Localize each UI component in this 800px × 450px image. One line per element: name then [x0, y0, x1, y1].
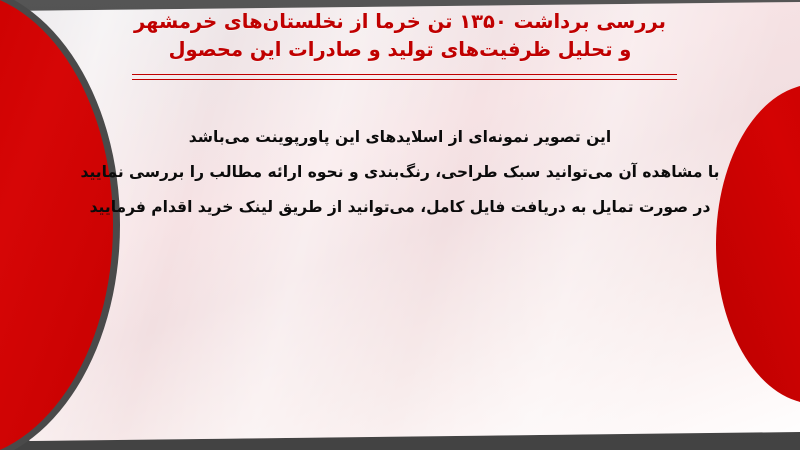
slide-body-line-3: در صورت تمایل به دریافت فایل کامل، می‌تو… — [0, 190, 800, 225]
slide-body-line-2: با مشاهده آن می‌توانید سبک طراحی، رنگ‌بن… — [0, 155, 800, 190]
slide-canvas: بررسی برداشت ۱۳۵۰ تن خرما از نخلستان‌های… — [0, 0, 800, 450]
title-divider-rule — [132, 74, 677, 80]
slide-title: بررسی برداشت ۱۳۵۰ تن خرما از نخلستان‌های… — [0, 8, 800, 63]
slide-title-line-1: بررسی برداشت ۱۳۵۰ تن خرما از نخلستان‌های… — [0, 8, 800, 36]
slide-body-text: این تصویر نمونه‌ای از اسلایدهای این پاور… — [0, 120, 800, 225]
slide-content: بررسی برداشت ۱۳۵۰ تن خرما از نخلستان‌های… — [0, 0, 800, 450]
slide-body-line-1: این تصویر نمونه‌ای از اسلایدهای این پاور… — [0, 120, 800, 155]
slide-title-line-2: و تحلیل ظرفیت‌های تولید و صادرات این محص… — [0, 36, 800, 64]
